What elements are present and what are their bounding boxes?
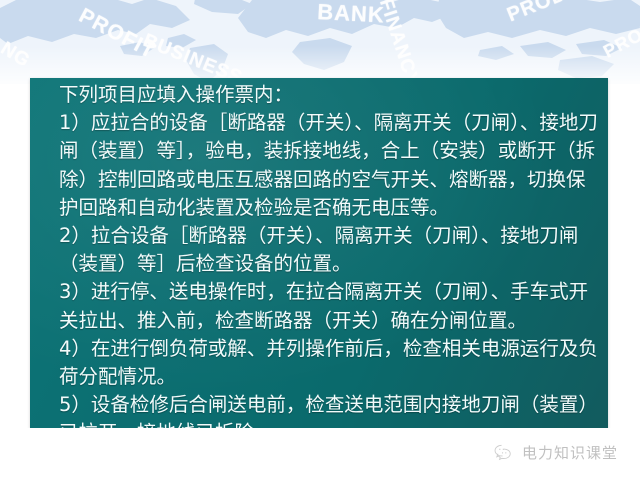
text-item-5: 5）设备检修后合闸送电前，检查送电范围内接地刀闸（装置）已拉开，接地线已拆除。 xyxy=(59,391,598,428)
brand-credit: 电力知识课堂 xyxy=(494,442,618,463)
footer-bar: 电力知识课堂 xyxy=(0,428,640,480)
text-item-4: 4）在进行倒负荷或解、并列操作前后，检查相关电源运行及负荷分配情况。 xyxy=(59,335,598,391)
operation-ticket-text: 下列项目应填入操作票内： 1）应拉合的设备［断路器（开关）、隔离开关（刀闸）、接… xyxy=(59,81,598,428)
text-item-3: 3）进行停、送电操作时，在拉合隔离开关（刀闸）、手车式开关拉出、推入前，检查断路… xyxy=(59,278,598,334)
text-item-2: 2）拉合设备［断路器（开关）、隔离开关（刀闸）、接地刀闸（装置）等］后检查设备的… xyxy=(59,222,598,278)
text-item-1: 1）应拉合的设备［断路器（开关）、隔离开关（刀闸）、接地刀闸（装置）等］，验电，… xyxy=(59,109,598,222)
brand-label: 电力知识课堂 xyxy=(522,442,618,463)
content-panel: 下列项目应填入操作票内： 1）应拉合的设备［断路器（开关）、隔离开关（刀闸）、接… xyxy=(30,78,608,428)
wechat-icon xyxy=(494,444,515,461)
background-map-band: PROFITNGBUSINESSBANKFINANCYPRODUCTPROFIT xyxy=(0,0,640,84)
text-heading: 下列项目应填入操作票内： xyxy=(59,81,598,109)
